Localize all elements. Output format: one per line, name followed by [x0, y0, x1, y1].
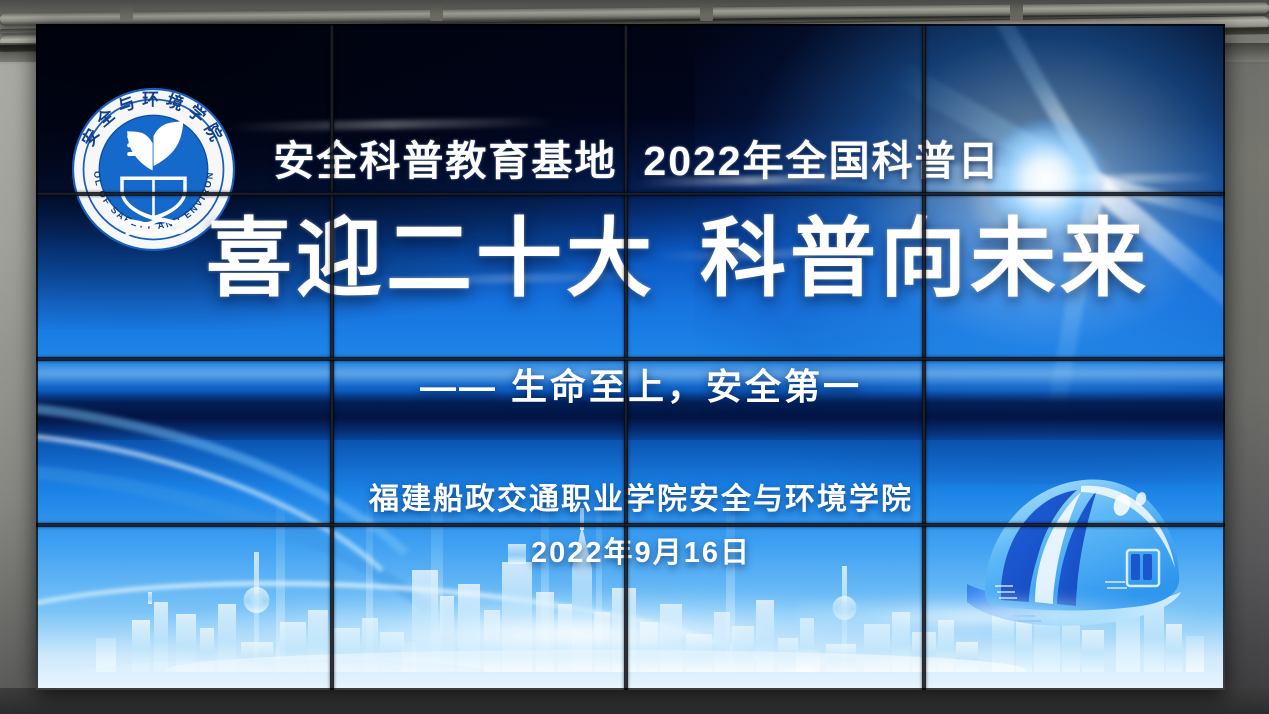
video-wall[interactable]: 安全与环境学院 SCHOOL OF SAFETY AND ENVIRONMENT [36, 24, 1225, 690]
pipe-clamp [700, 4, 713, 21]
room-background: 安全与环境学院 SCHOOL OF SAFETY AND ENVIRONMENT [0, 0, 1269, 714]
left-wall-panel [0, 0, 36, 714]
headline-left: 喜迎二十大 [206, 211, 656, 307]
display-subtitle: —— 生命至上，安全第一 [206, 358, 1076, 410]
title-left: 安全科普教育基地 [273, 138, 617, 184]
pipe-clamp [1010, 4, 1023, 21]
pipe-clamp [430, 4, 443, 21]
display-content: 安全与环境学院 SCHOOL OF SAFETY AND ENVIRONMENT [36, 24, 1225, 690]
display-headline: 喜迎二十大科普向未来 [206, 214, 1076, 304]
headline-right: 科普向未来 [700, 211, 1150, 307]
pipe-clamp [120, 4, 133, 21]
display-date: 2022年9月16日 [206, 529, 1076, 571]
floor [0, 688, 1269, 714]
display-organization: 福建船政交通职业学院安全与环境学院 [206, 474, 1076, 518]
